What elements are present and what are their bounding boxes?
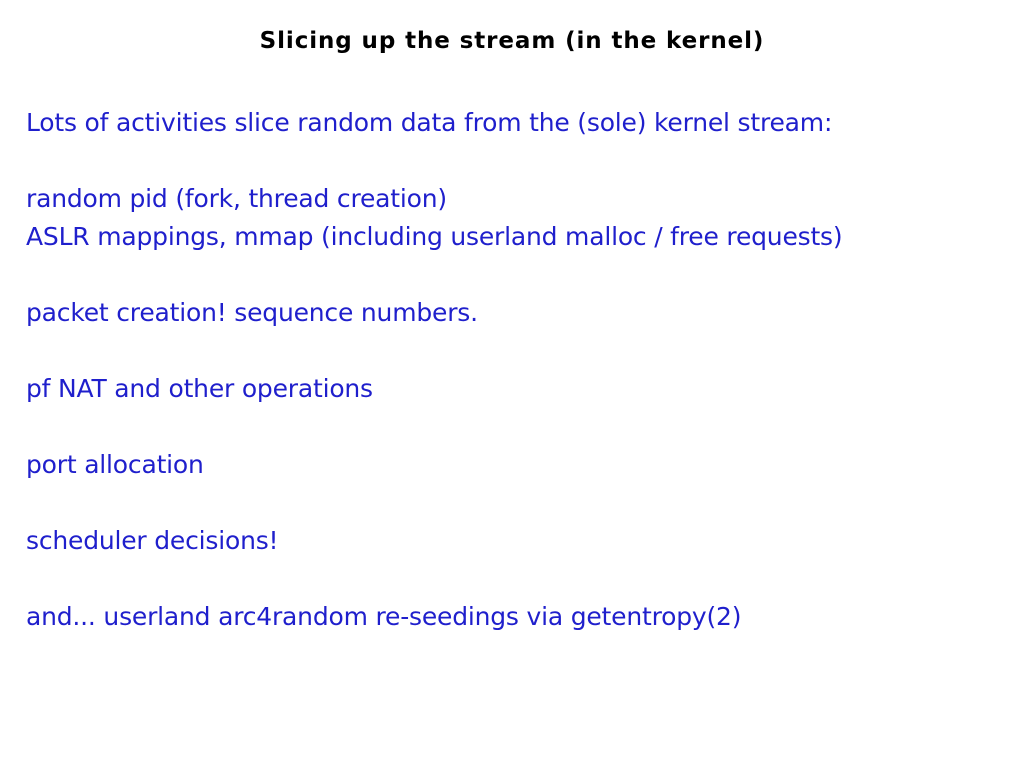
body-line: pf NAT and other operations [26, 370, 986, 408]
body-line: Lots of activities slice random data fro… [26, 104, 986, 142]
body-line: random pid (fork, thread creation) [26, 180, 986, 218]
body-line: scheduler decisions! [26, 522, 986, 560]
slide-body: Lots of activities slice random data fro… [26, 104, 986, 636]
body-line: port allocation [26, 446, 986, 484]
slide-canvas: Slicing up the stream (in the kernel) Lo… [0, 0, 1024, 768]
body-line: packet creation! sequence numbers. [26, 294, 986, 332]
body-line: ASLR mappings, mmap (including userland … [26, 218, 986, 256]
body-line: and... userland arc4random re-seedings v… [26, 598, 986, 636]
slide-title: Slicing up the stream (in the kernel) [0, 27, 1024, 55]
